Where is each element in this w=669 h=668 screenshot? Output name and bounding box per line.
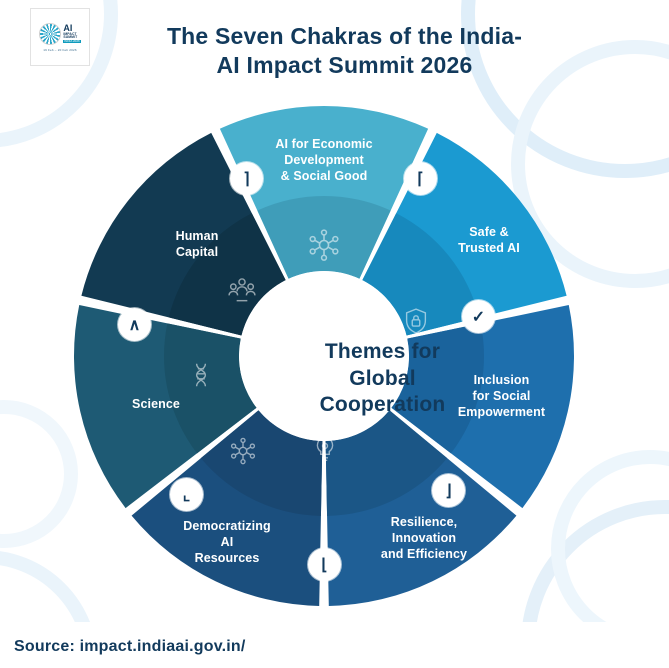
page-title-line1: The Seven Chakras of the India- [167,23,522,49]
infographic-canvas: AI IMPACT SUMMIT INDIA 2026 19 Feb – 20 … [0,0,669,668]
people-group-icon [226,274,258,306]
chakra-wheel: AI for Economic Development & Social Goo… [64,106,584,606]
notch-chevron-human-capital[interactable]: ∧ [118,308,151,341]
dna-flask-icon [186,360,216,390]
hub-line1: Themes for [320,339,446,366]
chevron-icon: ⌞ [183,485,191,505]
notch-chevron-safe-trusted-ai[interactable]: ⌈ [404,162,437,195]
page-title: The Seven Chakras of the India- AI Impac… [0,22,669,81]
notch-chevron-ai-for-economic-development-social-good[interactable]: ⌉ [230,162,263,195]
notch-chevron-democratizing-ai-resources[interactable]: ⌊ [308,548,341,581]
chevron-icon: ⌋ [445,481,451,501]
notch-chevron-inclusion-for-social-empowerment[interactable]: ✓ [462,300,495,333]
hub-line3: Cooperation [320,392,446,419]
chevron-icon: ⌈ [417,169,423,189]
source-label: Source: impact.indiaai.gov.in/ [14,638,246,656]
lightbulb-gear-icon [310,434,340,464]
atom-nodes-icon [228,436,258,466]
chevron-icon: ✓ [472,307,485,327]
wheel-hub-text: Themes for Global Cooperation [295,324,470,434]
gear-network-icon [307,228,341,262]
chevron-icon: ⌉ [243,169,249,189]
hub-line2: Global [320,366,446,393]
chevron-icon: ∧ [129,315,141,335]
notch-chevron-resilience-innovation-and-efficiency[interactable]: ⌋ [432,474,465,507]
page-title-line2: AI Impact Summit 2026 [40,51,649,80]
chevron-icon: ⌊ [321,555,327,575]
notch-chevron-science[interactable]: ⌞ [170,478,203,511]
